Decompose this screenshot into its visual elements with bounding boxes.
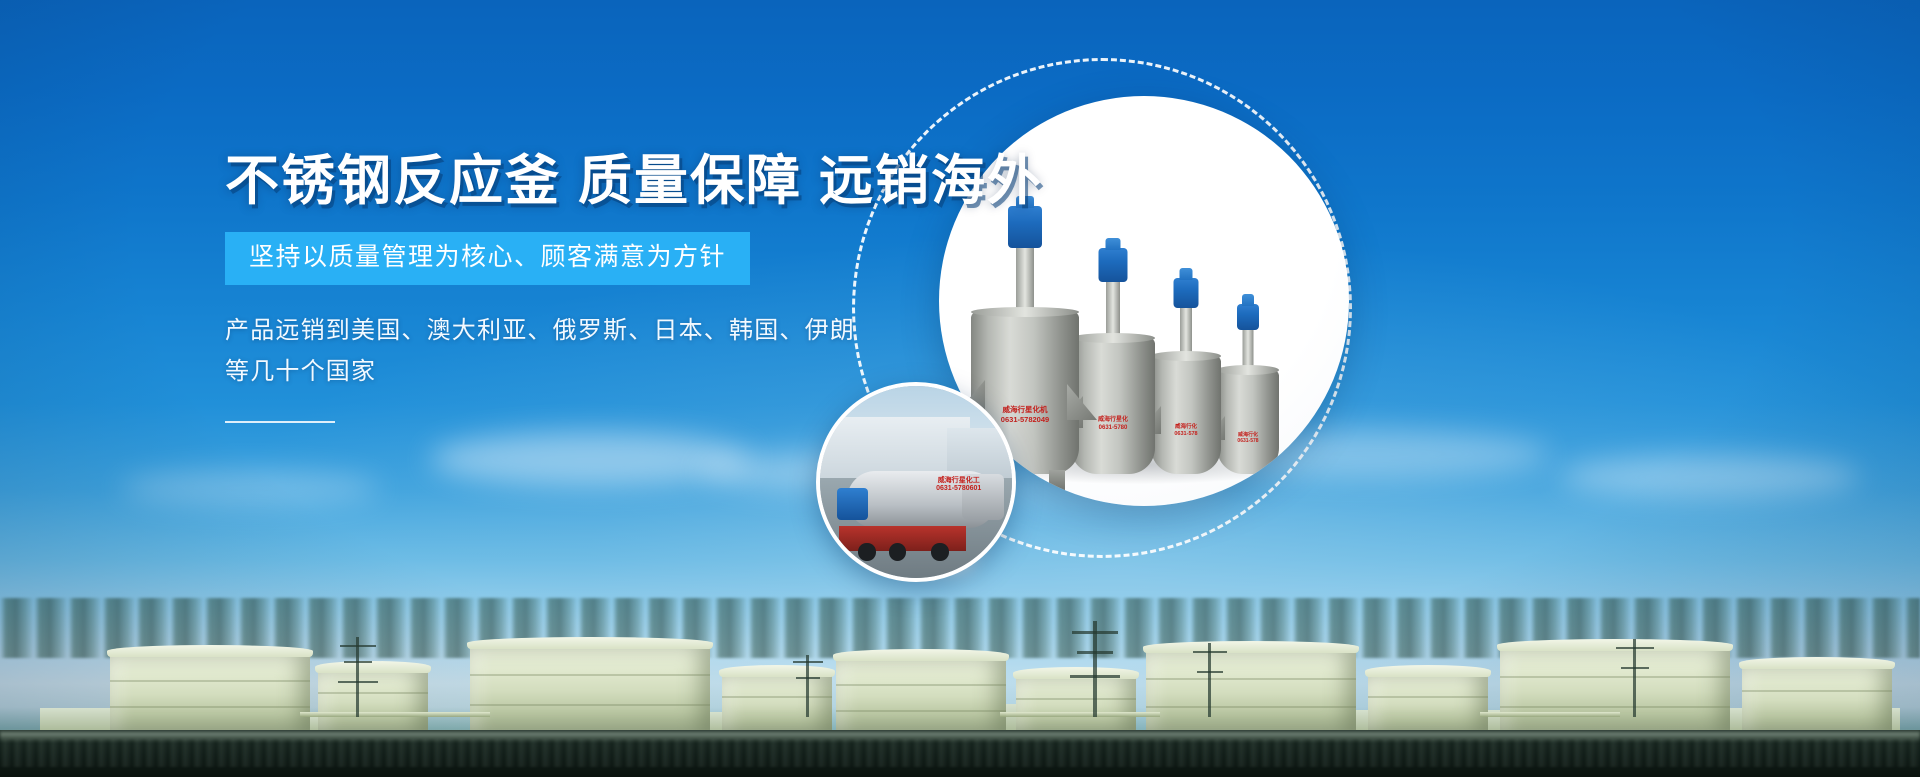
pipeline	[1480, 712, 1620, 717]
vessel-phone-label: 0631-5780	[1099, 425, 1128, 431]
banner-paragraph: 产品远销到美国、澳大利亚、俄罗斯、日本、韩国、伊朗 等几十个国家	[225, 311, 985, 393]
inset-reactor-motor	[837, 488, 868, 521]
reactor-vessel: 威海行化 0631-578	[1151, 278, 1221, 474]
reactor-vessel: 威海行星化 0631-5780	[1071, 248, 1155, 474]
inset-brand-text: 威海行星化工	[938, 477, 980, 484]
inset-truck-wheel	[889, 543, 906, 560]
inset-truck-wheel	[931, 543, 948, 560]
hero-banner: 威海行化 0631-578 威海行化 0631-578	[0, 0, 1920, 777]
vessel-phone-label: 0631-578	[1237, 438, 1258, 444]
storage-tank	[470, 644, 710, 734]
vessel-phone-label: 0631-578	[1174, 431, 1197, 437]
water-glints	[0, 739, 1920, 767]
paragraph-line-2: 等几十个国家	[225, 352, 985, 393]
storage-tank	[1742, 664, 1892, 734]
pipeline	[300, 712, 490, 717]
paragraph-line-1: 产品远销到美国、澳大利亚、俄罗斯、日本、韩国、伊朗	[225, 317, 855, 344]
power-pylon	[1190, 643, 1230, 717]
banner-subtitle-bar: 坚持以质量管理为核心、顾客满意为方针	[225, 232, 750, 285]
storage-tank	[1146, 648, 1356, 734]
storage-tank	[836, 656, 1006, 734]
power-pylon	[790, 655, 826, 717]
storage-tank	[110, 652, 310, 734]
banner-headline: 不锈钢反应釜 质量保障 远销海外	[225, 152, 985, 210]
power-pylon	[1614, 639, 1656, 717]
banner-copy: 不锈钢反应釜 质量保障 远销海外 坚持以质量管理为核心、顾客满意为方针 产品远销…	[225, 152, 985, 423]
vessel-brand-label: 威海行化	[1238, 432, 1258, 438]
storage-tank	[1368, 672, 1488, 734]
decorative-rule	[225, 421, 335, 423]
inset-brand-label: 威海行星化工 0631-5780601	[936, 477, 981, 494]
vessel-brand-label: 威海行星化	[1098, 417, 1128, 423]
reactor-vessel: 威海行化 0631-578	[1217, 304, 1279, 474]
inset-phone-text: 0631-5780601	[936, 485, 981, 492]
inset-truck-wheel	[858, 543, 875, 560]
vessel-brand-label: 威海行化	[1175, 424, 1197, 430]
power-pylon	[336, 637, 380, 717]
